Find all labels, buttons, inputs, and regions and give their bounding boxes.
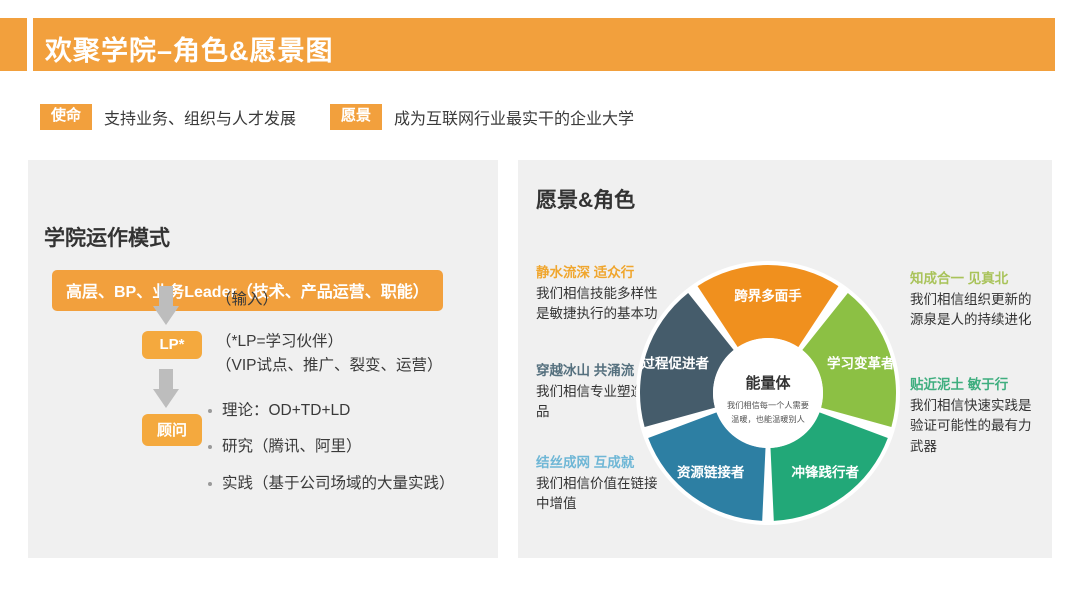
note-body: 我们相信组织更新的源泉是人的持续进化 — [910, 290, 1038, 331]
vision-chip: 愿景 — [330, 104, 382, 130]
donut-segment-label: 冲锋践行者 — [792, 464, 860, 480]
list-item: 理论：OD+TD+LD — [208, 400, 508, 422]
mission-text: 支持业务、组织与人才发展 — [104, 105, 296, 129]
left-panel-title: 学院运作模式 — [44, 222, 170, 252]
right-panel-title: 愿景&角色 — [536, 184, 635, 214]
note-knowledge-action: 知成合一 见真北 我们相信组织更新的源泉是人的持续进化 — [910, 270, 1038, 331]
consultant-bullets: 理论：OD+TD+LD 研究（腾讯、阿里） 实践（基于公司场域的大量实践） — [208, 400, 508, 509]
left-panel: 学院运作模式 高层、BP、业务Leader（技术、产品运营、职能） LP* 顾问… — [28, 160, 498, 558]
flow-text-block: （输入） （*LP=学习伙伴） （VIP试点、推广、裂变、运营） — [216, 288, 496, 378]
donut-segment-label: 过程促进者 — [642, 355, 710, 371]
core-sub-line2: 温暖，也能温暖别人 — [731, 414, 805, 424]
donut-svg: 能量体 我们相信每一个人需要 温暖，也能温暖别人 跨界多面手学习变革者冲锋践行者… — [635, 260, 901, 526]
note-heading: 贴近泥土 敏于行 — [910, 376, 1038, 394]
note-heading: 知成合一 见真北 — [910, 270, 1038, 288]
flow-text-lp: （*LP=学习伙伴） — [216, 330, 496, 354]
donut-segment-label: 学习变革者 — [827, 355, 895, 371]
note-close-to-soil: 贴近泥土 敏于行 我们相信快速实践是验证可能性的最有力武器 — [910, 376, 1038, 457]
donut-segment-label: 资源链接者 — [677, 464, 745, 480]
core-sub-line1: 我们相信每一个人需要 — [727, 400, 809, 410]
list-item: 研究（腾讯、阿里） — [208, 436, 508, 458]
page-title: 欢聚学院–角色&愿景图 — [45, 29, 334, 68]
flow-text-vip: （VIP试点、推广、裂变、运营） — [216, 354, 496, 378]
role-donut-chart: 能量体 我们相信每一个人需要 温暖，也能温暖别人 跨界多面手学习变革者冲锋践行者… — [635, 260, 901, 526]
flow-text-input: （输入） — [216, 288, 496, 312]
flow-node-consultant: 顾问 — [142, 414, 202, 446]
flow-node-lp: LP* — [142, 331, 202, 359]
arrow-down-icon-2 — [153, 369, 179, 409]
mission-vision-row: 使命 支持业务、组织与人才发展 愿景 成为互联网行业最实干的企业大学 — [40, 104, 634, 130]
donut-segment-label: 跨界多面手 — [734, 288, 802, 304]
core-title: 能量体 — [745, 374, 791, 392]
slide-canvas: 欢聚学院–角色&愿景图 使命 支持业务、组织与人才发展 愿景 成为互联网行业最实… — [0, 0, 1080, 608]
right-panel: 愿景&角色 静水流深 适众行 我们相信技能多样性是敏捷执行的基本功 穿越冰山 共… — [518, 160, 1052, 558]
list-item: 实践（基于公司场域的大量实践） — [208, 473, 508, 495]
donut-core — [713, 338, 823, 448]
vision-text: 成为互联网行业最实干的企业大学 — [394, 105, 634, 129]
mission-chip: 使命 — [40, 104, 92, 130]
header-divider — [27, 18, 33, 71]
flow-column: LP* 顾问 — [142, 286, 190, 446]
arrow-down-icon — [153, 286, 179, 326]
note-body: 我们相信快速实践是验证可能性的最有力武器 — [910, 396, 1038, 457]
